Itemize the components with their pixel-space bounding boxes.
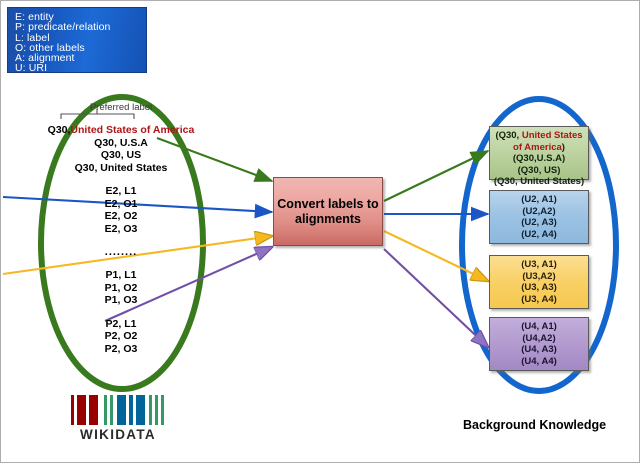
ellipsis-row: ........ xyxy=(45,246,197,258)
u4-row-1: (U4, A1) xyxy=(490,321,588,333)
p1-row-3: P1, O3 xyxy=(45,294,197,307)
green-row-1: (Q30, United States xyxy=(490,130,588,142)
u2-row-1: (U2, A1) xyxy=(490,194,588,206)
group-gap xyxy=(45,174,197,185)
diagram-canvas: E: entity P: predicate/relation L: label… xyxy=(0,0,640,463)
entity-preferred-row: Q30,United States of America xyxy=(45,124,197,137)
u2-row-2: (U2,A2) xyxy=(490,206,588,218)
entity-alt-row-3: Q30, United States xyxy=(45,162,197,175)
p1-row-1: P1, L1 xyxy=(45,269,197,282)
green-row2-red: of America xyxy=(513,142,562,153)
output-box-u3: (U3, A1) (U3,A2) (U3, A3) (U3, A4) xyxy=(489,255,589,309)
wikidata-logo-text: WIKIDATA xyxy=(71,427,165,442)
u2-row-3: (U2, A3) xyxy=(490,217,588,229)
entity-id: Q30, xyxy=(48,124,71,136)
green-row1-prefix: (Q30, xyxy=(495,130,521,141)
wikidata-barcode-icon xyxy=(71,395,165,425)
entity-alt-row-1: Q30, U.S.A xyxy=(45,137,197,150)
p2-row-1: P2, L1 xyxy=(45,318,197,331)
background-knowledge-caption: Background Knowledge xyxy=(463,418,606,432)
e2-row-3: E2, O2 xyxy=(45,210,197,223)
entity-preferred-label: United States of America xyxy=(70,124,194,136)
u4-row-3: (U4, A3) xyxy=(490,344,588,356)
process-label: Convert labels to alignments xyxy=(274,197,382,227)
brace-spacer xyxy=(45,114,197,123)
u3-row-3: (U3, A3) xyxy=(490,282,588,294)
green-row1-red: United States xyxy=(522,130,583,141)
arrow-out-yellow xyxy=(384,231,488,281)
p2-row-2: P2, O2 xyxy=(45,330,197,343)
group-gap xyxy=(45,235,197,246)
e2-row-2: E2, O1 xyxy=(45,198,197,211)
barcode-bar-14 xyxy=(136,395,145,425)
wikidata-logo: WIKIDATA xyxy=(71,395,165,442)
barcode-bar-10 xyxy=(117,395,126,425)
green-row-3: (Q30,U.S.A) xyxy=(490,153,588,165)
u4-row-2: (U4,A2) xyxy=(490,333,588,345)
preferred-label-caption: Preferred label xyxy=(45,102,197,113)
u3-row-4: (U3, A4) xyxy=(490,294,588,306)
group-gap xyxy=(45,258,197,269)
u3-row-1: (U3, A1) xyxy=(490,259,588,271)
green-row-2: of America) xyxy=(490,142,588,154)
u4-row-4: (U4, A4) xyxy=(490,356,588,368)
process-box: Convert labels to alignments xyxy=(273,177,383,246)
p2-row-3: P2, O3 xyxy=(45,343,197,356)
entity-alt-row-2: Q30, US xyxy=(45,149,197,162)
output-box-u4: (U4, A1) (U4,A2) (U4, A3) (U4, A4) xyxy=(489,317,589,371)
green-row-5: (Q30, United States) xyxy=(490,176,588,188)
barcode-bar-2 xyxy=(77,395,86,425)
e2-row-4: E2, O3 xyxy=(45,223,197,236)
legend-box: E: entity P: predicate/relation L: label… xyxy=(7,7,147,73)
green-row-4: (Q30, US) xyxy=(490,165,588,177)
u3-row-2: (U3,A2) xyxy=(490,271,588,283)
output-box-u2: (U2, A1) (U2,A2) (U2, A3) (U2, A4) xyxy=(489,190,589,244)
source-label-list: Preferred label Q30,United States of Ame… xyxy=(45,102,197,355)
arrow-out-purple xyxy=(384,249,488,347)
barcode-bar-4 xyxy=(89,395,98,425)
p1-row-2: P1, O2 xyxy=(45,282,197,295)
group-gap xyxy=(45,307,197,318)
legend-line-uri: U: URI xyxy=(15,63,146,73)
barcode-bar-20 xyxy=(161,395,164,425)
arrow-out-green xyxy=(384,151,488,201)
green-row2-suffix: ) xyxy=(562,142,565,153)
output-box-entity-alignments: (Q30, United States of America) (Q30,U.S… xyxy=(489,126,589,180)
e2-row-1: E2, L1 xyxy=(45,185,197,198)
u2-row-4: (U2, A4) xyxy=(490,229,588,241)
